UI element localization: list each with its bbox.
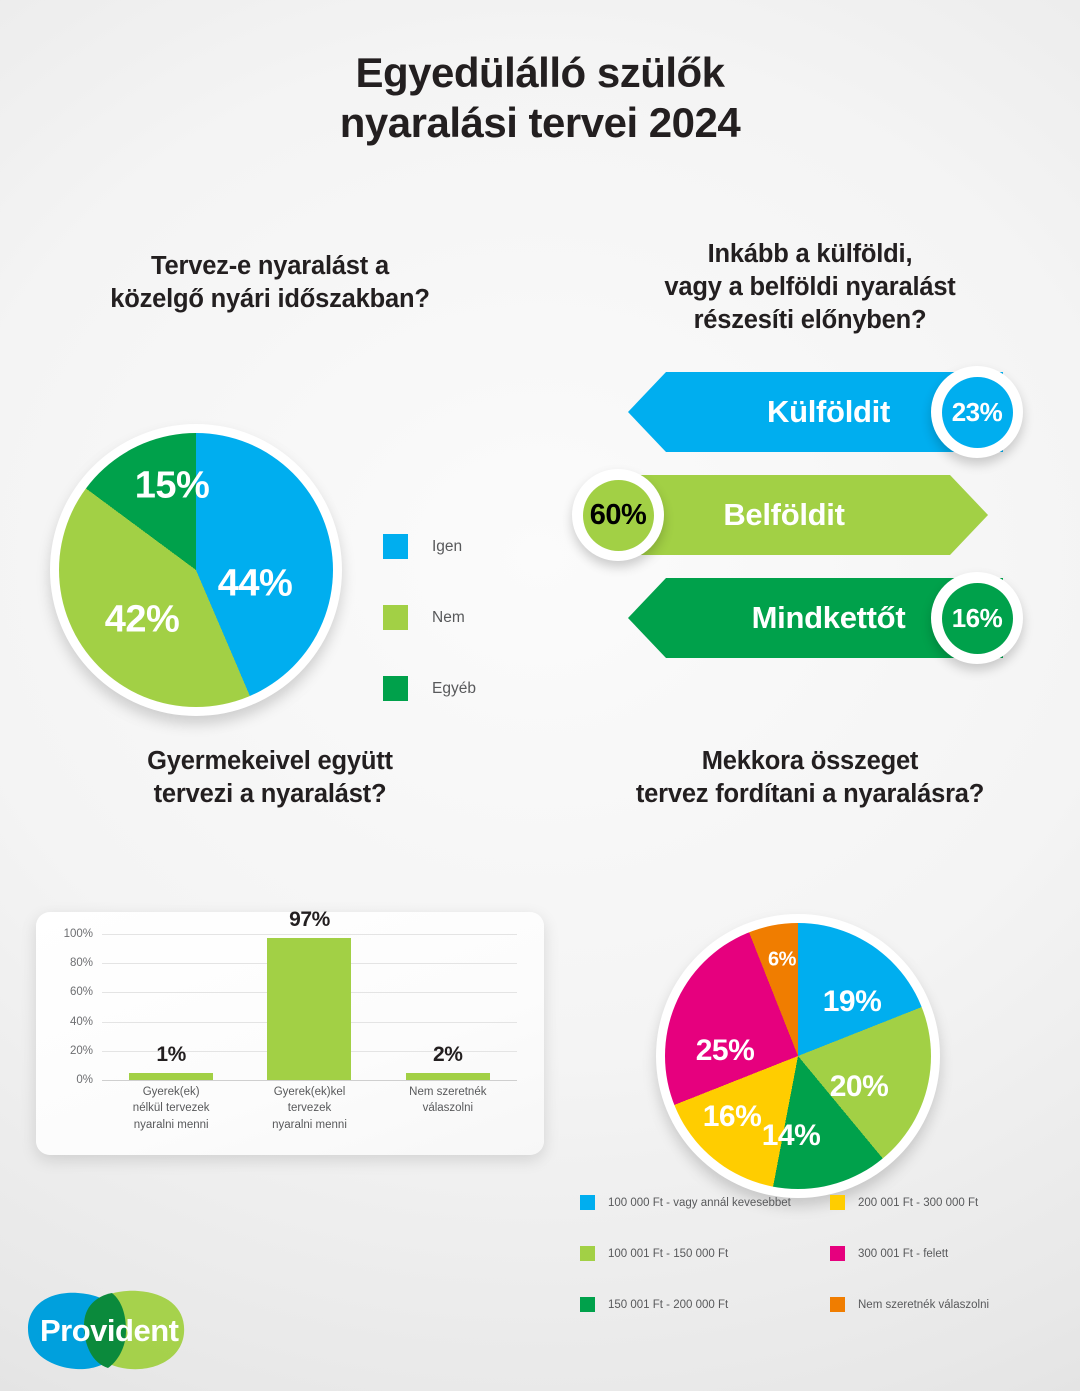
legend-swatch-200001-300000 (830, 1195, 845, 1210)
bar-chart-x-labels: Gyerek(ek) nélkül tervezek nyaralni menn… (102, 1084, 517, 1133)
badge-value-mindkettot: 16% (942, 583, 1013, 654)
legend-item: Igen (383, 511, 476, 582)
badge-belfoldit: 60% (572, 469, 664, 561)
legend-item: Nem szeretnék válaszolni (830, 1297, 1080, 1312)
badge-value-kulfoldit: 23% (942, 377, 1013, 448)
legend-swatch-300001-above (830, 1246, 845, 1261)
arrow-row-belfoldit: Belföldit 60% (540, 469, 1080, 561)
axis-x: 0% (102, 1080, 517, 1081)
pie-slice-label-19: 19% (823, 985, 882, 1019)
badge-value-belfoldit: 60% (583, 480, 654, 551)
pie-chart-q4: 19% 20% 14% 16% 25% 6% (656, 914, 940, 1198)
arrow-row-kulfoldit: Külföldit 23% (540, 366, 1080, 458)
logo-wordmark: Provident (40, 1313, 179, 1348)
x-label-line: válaszolni (379, 1100, 517, 1116)
badge-kulfoldit: 23% (931, 366, 1023, 458)
section-title-q4-line2: tervez fordítani a nyaralásra? (540, 778, 1080, 811)
section-title-q1: Tervez-e nyaralást a közelgő nyári idősz… (0, 250, 540, 316)
section-title-q1-line1: Tervez-e nyaralást a (0, 250, 540, 283)
arrow-label-belfoldit: Belföldit (723, 497, 844, 533)
pie-slice-label-igen: 44% (218, 563, 293, 606)
pie-slice-label-20: 20% (830, 1070, 889, 1104)
legend-item: 100 000 Ft - vagy annál kevesebbet (580, 1195, 830, 1210)
page-title-line2: nyaralási tervei 2024 (0, 98, 1080, 148)
legend-swatch-100000-or-less (580, 1195, 595, 1210)
pie-slice-label-16: 16% (703, 1100, 762, 1134)
section-title-q4-line1: Mekkora összeget (540, 745, 1080, 778)
section-title-q2-line1: Inkább a külföldi, (540, 238, 1080, 271)
pie-legend-q1: Igen Nem Egyéb (383, 511, 476, 724)
legend-swatch-100001-150000 (580, 1246, 595, 1261)
bar-column: 97% (240, 934, 378, 1080)
arrow-label-kulfoldit: Külföldit (767, 394, 890, 430)
legend-swatch-nem (383, 605, 408, 630)
pie-slice-label-6: 6% (768, 949, 796, 972)
x-label-gyerek-nelkul: Gyerek(ek) nélkül tervezek nyaralni menn… (102, 1084, 240, 1133)
x-label-line: Gyerek(ek) (102, 1084, 240, 1100)
section-title-q1-line2: közelgő nyári időszakban? (0, 283, 540, 316)
pie-chart-q1-wrap: 44% 42% 15% Igen Nem Egyéb (0, 316, 540, 608)
arrow-chart-q2: Külföldit 23% Belföldit 60% Mindkettőt 1… (540, 366, 1080, 676)
section-vacation-plan: Tervez-e nyaralást a közelgő nyári idősz… (0, 250, 540, 608)
bar-chart-card-q3: 100% 80% 60% 40% 20% 0% 1% (36, 912, 544, 1155)
bar-value-nem-valaszolni: 2% (433, 1043, 463, 1067)
section-title-q2-line3: részesíti előnyben? (540, 304, 1080, 337)
bar-column: 2% (379, 934, 517, 1080)
y-tick-80: 80% (70, 957, 93, 969)
pie-chart-q1: 44% 42% 15% (50, 424, 342, 716)
arrow-label-mindkettot: Mindkettőt (752, 600, 906, 636)
bar-nem-valaszolni (406, 1073, 490, 1080)
pie-legend-q4: 100 000 Ft - vagy annál kevesebbet 200 0… (580, 1195, 1080, 1312)
legend-item: Nem (383, 582, 476, 653)
legend-label-100001-150000: 100 001 Ft - 150 000 Ft (608, 1248, 728, 1260)
section-title-q4: Mekkora összeget tervez fordítani a nyar… (540, 745, 1080, 811)
legend-label-150001-200000: 150 001 Ft - 200 000 Ft (608, 1299, 728, 1311)
legend-swatch-150001-200000 (580, 1297, 595, 1312)
bar-gyerek-nelkul (129, 1073, 213, 1080)
pie-slice-label-egyeb: 15% (135, 465, 210, 508)
section-title-q3-line1: Gyermekeivel együtt (0, 745, 540, 778)
x-label-line: Nem szeretnék (379, 1084, 517, 1100)
legend-label-100000-or-less: 100 000 Ft - vagy annál kevesebbet (608, 1197, 791, 1209)
legend-item: 200 001 Ft - 300 000 Ft (830, 1195, 1080, 1210)
section-budget: Mekkora összeget tervez fordítani a nyar… (540, 745, 1080, 1095)
x-label-line: tervezek (240, 1100, 378, 1116)
provident-logo-icon: Provident (22, 1285, 212, 1377)
legend-item: 300 001 Ft - felett (830, 1246, 1080, 1261)
x-label-gyerekkel: Gyerek(ek)kel tervezek nyaralni menni (240, 1084, 378, 1133)
pie-slice-label-14: 14% (762, 1119, 821, 1153)
x-label-line: nyaralni menni (102, 1117, 240, 1133)
badge-mindkettot: 16% (931, 572, 1023, 664)
legend-item: 100 001 Ft - 150 000 Ft (580, 1246, 830, 1261)
legend-swatch-egyeb (383, 676, 408, 701)
legend-item: 150 001 Ft - 200 000 Ft (580, 1297, 830, 1312)
provident-logo: Provident (22, 1285, 212, 1377)
y-tick-0: 0% (76, 1074, 93, 1086)
legend-swatch-igen (383, 534, 408, 559)
y-tick-40: 40% (70, 1016, 93, 1028)
legend-item: Egyéb (383, 653, 476, 724)
legend-label-300001-above: 300 001 Ft - felett (858, 1248, 948, 1260)
legend-label-no-answer: Nem szeretnék válaszolni (858, 1299, 989, 1311)
x-label-nem-valaszolni: Nem szeretnék válaszolni (379, 1084, 517, 1133)
legend-label-igen: Igen (432, 538, 462, 556)
y-tick-100: 100% (64, 928, 93, 940)
legend-label-nem: Nem (432, 609, 465, 627)
bar-series: 1% 97% 2% (102, 934, 517, 1080)
legend-swatch-no-answer (830, 1297, 845, 1312)
bar-gyerekkel (267, 938, 351, 1080)
bar-chart-plot-area: 100% 80% 60% 40% 20% 0% 1% (102, 934, 517, 1080)
y-tick-60: 60% (70, 986, 93, 998)
x-label-line: nélkül tervezek (102, 1100, 240, 1116)
pie-slice-label-25: 25% (696, 1034, 755, 1068)
bar-value-gyerek-nelkul: 1% (156, 1043, 186, 1067)
pie-slice-label-nem: 42% (105, 599, 180, 642)
section-title-q2: Inkább a külföldi, vagy a belföldi nyara… (540, 238, 1080, 337)
x-label-line: Gyerek(ek)kel (240, 1084, 378, 1100)
section-title-q2-line2: vagy a belföldi nyaralást (540, 271, 1080, 304)
section-title-q3: Gyermekeivel együtt tervezi a nyaralást? (0, 745, 540, 811)
section-title-q3-line2: tervezi a nyaralást? (0, 778, 540, 811)
x-label-line: nyaralni menni (240, 1117, 378, 1133)
legend-label-200001-300000: 200 001 Ft - 300 000 Ft (858, 1197, 978, 1209)
bar-value-gyerekkel: 97% (289, 908, 330, 932)
y-tick-20: 20% (70, 1045, 93, 1057)
page-title: Egyedülálló szülők nyaralási tervei 2024 (0, 0, 1080, 147)
legend-label-egyeb: Egyéb (432, 680, 476, 698)
page-title-line1: Egyedülálló szülők (0, 48, 1080, 98)
section-children-plan: Gyermekeivel együtt tervezi a nyaralást?… (0, 745, 540, 811)
bar-column: 1% (102, 934, 240, 1080)
arrow-row-mindkettot: Mindkettőt 16% (540, 572, 1080, 664)
section-destination-preference: Inkább a külföldi, vagy a belföldi nyara… (540, 238, 1080, 337)
